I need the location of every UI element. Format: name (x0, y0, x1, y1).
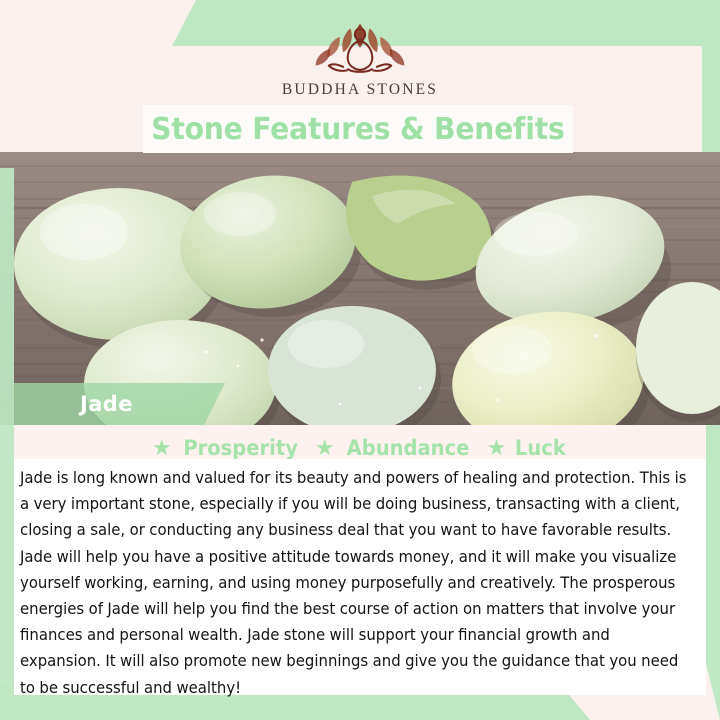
benefit-item: ★ Luck (487, 436, 568, 460)
benefit-label: Luck (515, 436, 566, 460)
benefit-label: Prosperity (183, 436, 298, 460)
star-icon: ★ (487, 437, 507, 459)
title-banner: Stone Features & Benefits (143, 105, 573, 153)
benefit-item: ★ Prosperity (152, 436, 302, 460)
content-panel: ★ Prosperity ★ Abundance ★ Luck Jade is … (14, 425, 706, 695)
brand-name: BUDDHA STONES (282, 81, 438, 99)
benefit-label: Abundance (346, 436, 469, 460)
page-title: Stone Features & Benefits (151, 112, 564, 147)
star-icon: ★ (152, 437, 172, 459)
description-text: Jade is long known and valued for its be… (20, 465, 693, 701)
lotus-meditation-figure-icon (306, 14, 414, 80)
description-box: Jade is long known and valued for its be… (14, 459, 706, 695)
benefit-item: ★ Abundance (315, 436, 474, 460)
star-icon: ★ (315, 437, 335, 459)
stone-name-bar: Jade (14, 383, 225, 425)
brand-logo: BUDDHA STONES (0, 14, 720, 106)
infographic-page: BUDDHA STONES Stone Features & Benefits (0, 0, 720, 720)
stone-name: Jade (80, 392, 133, 416)
decorative-left-band (0, 168, 14, 720)
